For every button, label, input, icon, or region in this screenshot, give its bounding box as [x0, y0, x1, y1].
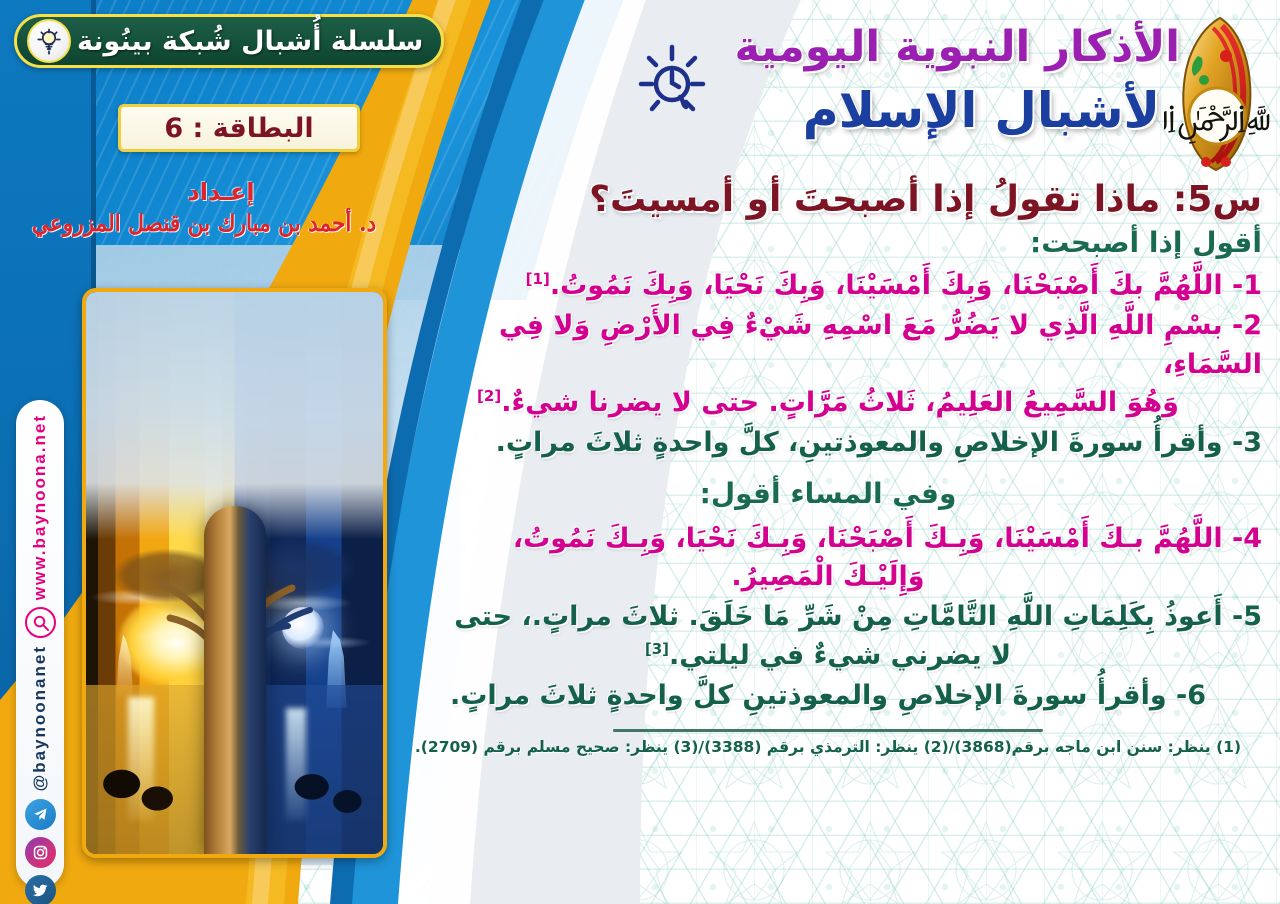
series-banner-label: سلسلة أُشبال شُبكة بينُونة	[77, 26, 423, 57]
item-6-line-1: 6- وأقرأُ سورةَ الإخلاصِ والمعوذتينِ كلَ…	[450, 680, 1206, 711]
prepared-by-label: إعـداد	[56, 178, 386, 206]
list-item: 6- وأقرأُ سورةَ الإخلاصِ والمعوذتينِ كلَ…	[394, 677, 1262, 715]
card-number-badge: البطاقة : 6	[118, 104, 360, 152]
main-title-line2: لأشبال الإسلام	[803, 82, 1160, 139]
item-5-line-1: 5- أَعوذُ بِكَلِمَاتِ اللَّهِ التَّامَّا…	[394, 598, 1262, 636]
snapchat-icon[interactable]	[25, 607, 56, 638]
social-rail: www.baynoona.net @baynoonanet	[16, 400, 64, 888]
item-1-line-1: 1- اللَّهُمَّ بكَ أَصْبَحْنَا، وَبِكَ أَ…	[550, 270, 1262, 301]
morning-intro-label: أقول إذا أصبحت:	[394, 226, 1262, 259]
item-2-footnote-marker: [2]	[477, 387, 501, 405]
instagram-icon[interactable]	[25, 837, 56, 868]
list-item: 4- اللَّهُمَّ بـكَ أَمْسَيْنَا، وَبِـكَ …	[394, 520, 1262, 597]
item-3-line-1: 3- وأقرأُ سورةَ الإخلاصِ والمعوذتينِ، كل…	[496, 427, 1262, 458]
list-item: 1- اللَّهُمَّ بكَ أَصْبَحْنَا، وَبِكَ أَ…	[394, 267, 1262, 305]
item-4-line-2: وَإِلَيْـكَ الْمَصِيرُ.	[394, 558, 1262, 596]
main-title-line1: الأذكار النبوية اليومية	[735, 22, 1181, 72]
list-item: 5- أَعوذُ بِكَلِمَاتِ اللَّهِ التَّامَّا…	[394, 598, 1262, 675]
series-banner: سلسلة أُشبال شُبكة بينُونة	[14, 14, 444, 68]
item-4-line-1: 4- اللَّهُمَّ بـكَ أَمْسَيْنَا، وَبِـكَ …	[394, 520, 1262, 558]
card-number-label: البطاقة : 6	[164, 113, 313, 144]
svg-text:﷽: ﷽	[1164, 98, 1270, 144]
social-handle[interactable]: @baynoonanet	[30, 645, 50, 791]
list-item: 2- بسْمِ اللَّهِ الَّذِي لا يَضُرُّ مَعَ…	[394, 307, 1262, 422]
author-credit: إعـداد د. أحمد بن مبارك بن قنصل المزروعي	[56, 178, 386, 237]
author-name: د. أحمد بن مبارك بن قنصل المزروعي	[66, 210, 376, 237]
adhkar-card: سلسلة أُشبال شُبكة بينُونة البطاقة : 6 إ…	[0, 0, 1280, 904]
day-night-tree-illustration	[82, 288, 387, 858]
item-5-footnote-marker: [3]	[645, 640, 669, 658]
item-2-line-2: وَهُوَ السَّمِيعُ العَلِيمُ، ثَلاثُ مَرَ…	[501, 387, 1179, 418]
golden-emblem-ornament: ﷽	[1164, 12, 1270, 182]
footnote-references: (1) ينظر: سنن ابن ماجه برقم(3868)/(2) ين…	[394, 738, 1262, 756]
item-5-line-2: لا يضرني شيءٌ في ليلتي.	[669, 640, 1011, 671]
telegram-icon[interactable]	[25, 799, 56, 830]
lightbulb-icon	[27, 19, 71, 63]
question-text: س5: ماذا تقولُ إذا أصبحتَ أو أمسيتَ؟	[394, 178, 1262, 222]
item-2-line-1: 2- بسْمِ اللَّهِ الَّذِي لا يَضُرُّ مَعَ…	[394, 307, 1262, 384]
evening-intro-label: وفي المساء أقول:	[394, 477, 1262, 510]
footnote-divider	[613, 729, 1043, 732]
twitter-icon[interactable]	[25, 875, 56, 904]
content-column: س5: ماذا تقولُ إذا أصبحتَ أو أمسيتَ؟ أقو…	[394, 178, 1262, 756]
lightbulb-clock-icon	[637, 40, 707, 126]
list-item: 3- وأقرأُ سورةَ الإخلاصِ والمعوذتينِ، كل…	[394, 424, 1262, 462]
item-1-footnote-marker: [1]	[526, 270, 550, 288]
website-url[interactable]: www.baynoona.net	[30, 414, 50, 600]
